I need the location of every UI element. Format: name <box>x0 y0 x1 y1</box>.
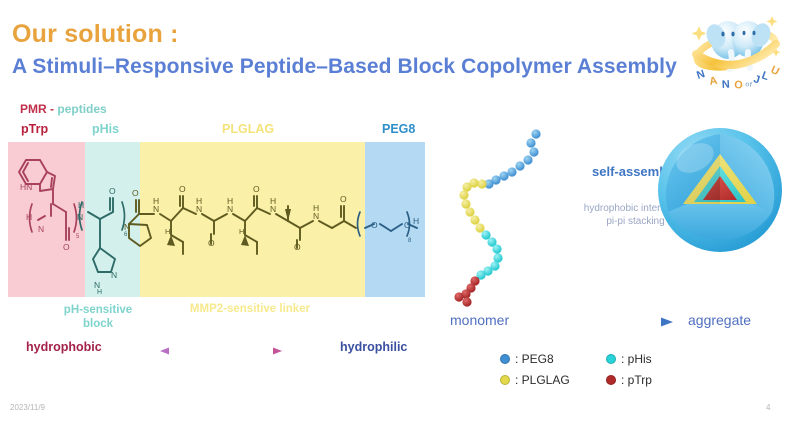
svg-text:O: O <box>63 242 70 252</box>
pmr-dash: - <box>50 102 54 116</box>
legend-dot-plglag <box>500 375 510 385</box>
svg-text:N: N <box>695 68 706 82</box>
legend-item-peg8: : PEG8 <box>500 352 606 366</box>
hydrophobic-label: hydrophobic <box>26 340 102 354</box>
svg-text:O: O <box>294 242 301 252</box>
hydrophilic-label: hydrophilic <box>340 340 407 354</box>
svg-text:N: N <box>124 222 130 232</box>
svg-text:6: 6 <box>124 232 128 238</box>
svg-text:N: N <box>111 270 117 280</box>
svg-text:H: H <box>26 212 32 222</box>
svg-text:5: 5 <box>76 234 80 240</box>
legend-row: : PEG8 : pHis <box>500 348 730 369</box>
svg-text:O: O <box>734 79 744 92</box>
legend-item-phis: : pHis <box>606 352 712 366</box>
block-label-ptrp: pTrp <box>21 122 48 136</box>
svg-text:H: H <box>97 289 102 296</box>
svg-text:HN: HN <box>20 182 32 192</box>
mmp2-linker-label: MMP2-sensitive linker <box>160 303 340 315</box>
svg-text:L: L <box>760 70 771 84</box>
footer-date: 2023/11/9 <box>10 403 45 412</box>
aggregate-label: aggregate <box>688 312 751 328</box>
svg-text:U: U <box>769 64 781 78</box>
svg-text:8: 8 <box>408 238 412 244</box>
pmr-text: PMR <box>20 102 47 116</box>
legend-label-plglag: : PLGLAG <box>515 373 570 387</box>
monomer-to-aggregate-arrow-icon <box>535 315 675 329</box>
legend-item-ptrp: : pTrp <box>606 373 712 387</box>
monomer-label: monomer <box>450 312 509 328</box>
chemical-structure-drawing: HN H N O 5 <box>8 142 425 297</box>
slide-canvas: Our solution : A Stimuli–Responsive Pept… <box>0 0 798 446</box>
svg-text:O: O <box>340 194 347 204</box>
svg-text:O: O <box>404 220 411 230</box>
block-label-plglag: PLGLAG <box>222 122 274 136</box>
svg-text:O: O <box>132 188 139 198</box>
legend-dot-phis <box>606 354 616 364</box>
legend-label-peg8: : PEG8 <box>515 352 554 366</box>
footer-page-number: 4 <box>766 403 770 412</box>
micelle-aggregate-illustration <box>653 120 788 260</box>
svg-text:of: of <box>745 81 753 89</box>
amphiphilic-double-arrow-icon <box>158 345 284 357</box>
pmr-peptides-label: PMR - peptides <box>20 102 107 116</box>
self-assembly-panel: self-assemble hydrophobic interaction pi… <box>440 100 798 400</box>
block-label-peg8: PEG8 <box>382 122 415 136</box>
monomer-bead-chain <box>452 128 547 308</box>
svg-text:O: O <box>253 184 260 194</box>
legend-label-phis: : pHis <box>621 352 652 366</box>
svg-text:H: H <box>78 200 84 210</box>
svg-text:N: N <box>77 212 83 222</box>
legend-dot-peg8 <box>500 354 510 364</box>
nano-jlu-logo: N A N O of J L U <box>686 6 786 94</box>
svg-text:N: N <box>722 79 731 91</box>
svg-text:H: H <box>413 216 419 226</box>
peptides-text: peptides <box>57 102 106 116</box>
molecular-structure-panel: PMR - peptides pTrp pHis PLGLAG PEG8 <box>0 100 440 370</box>
svg-text:H: H <box>165 227 170 236</box>
svg-text:N: N <box>38 224 44 234</box>
svg-text:O: O <box>371 220 378 230</box>
svg-text:A: A <box>708 75 718 88</box>
ph-sensitive-block-label: pH-sensitive block <box>58 303 138 331</box>
svg-text:O: O <box>208 238 215 248</box>
block-label-phis: pHis <box>92 122 119 136</box>
svg-text:H: H <box>270 196 276 206</box>
bead-color-legend: : PEG8 : pHis : PLGLAG : pTrp <box>500 348 730 390</box>
page-title-subtitle: A Stimuli–Responsive Peptide–Based Block… <box>12 55 677 79</box>
svg-text:O: O <box>179 184 186 194</box>
legend-label-ptrp: : pTrp <box>621 373 652 387</box>
svg-text:O: O <box>109 186 116 196</box>
legend-dot-ptrp <box>606 375 616 385</box>
svg-text:H: H <box>153 196 159 206</box>
legend-row: : PLGLAG : pTrp <box>500 369 730 390</box>
svg-text:H: H <box>196 196 202 206</box>
svg-text:H: H <box>313 203 319 213</box>
legend-item-plglag: : PLGLAG <box>500 373 606 387</box>
svg-text:H: H <box>239 227 244 236</box>
svg-text:H: H <box>227 196 233 206</box>
page-title-primary: Our solution : <box>12 20 179 49</box>
